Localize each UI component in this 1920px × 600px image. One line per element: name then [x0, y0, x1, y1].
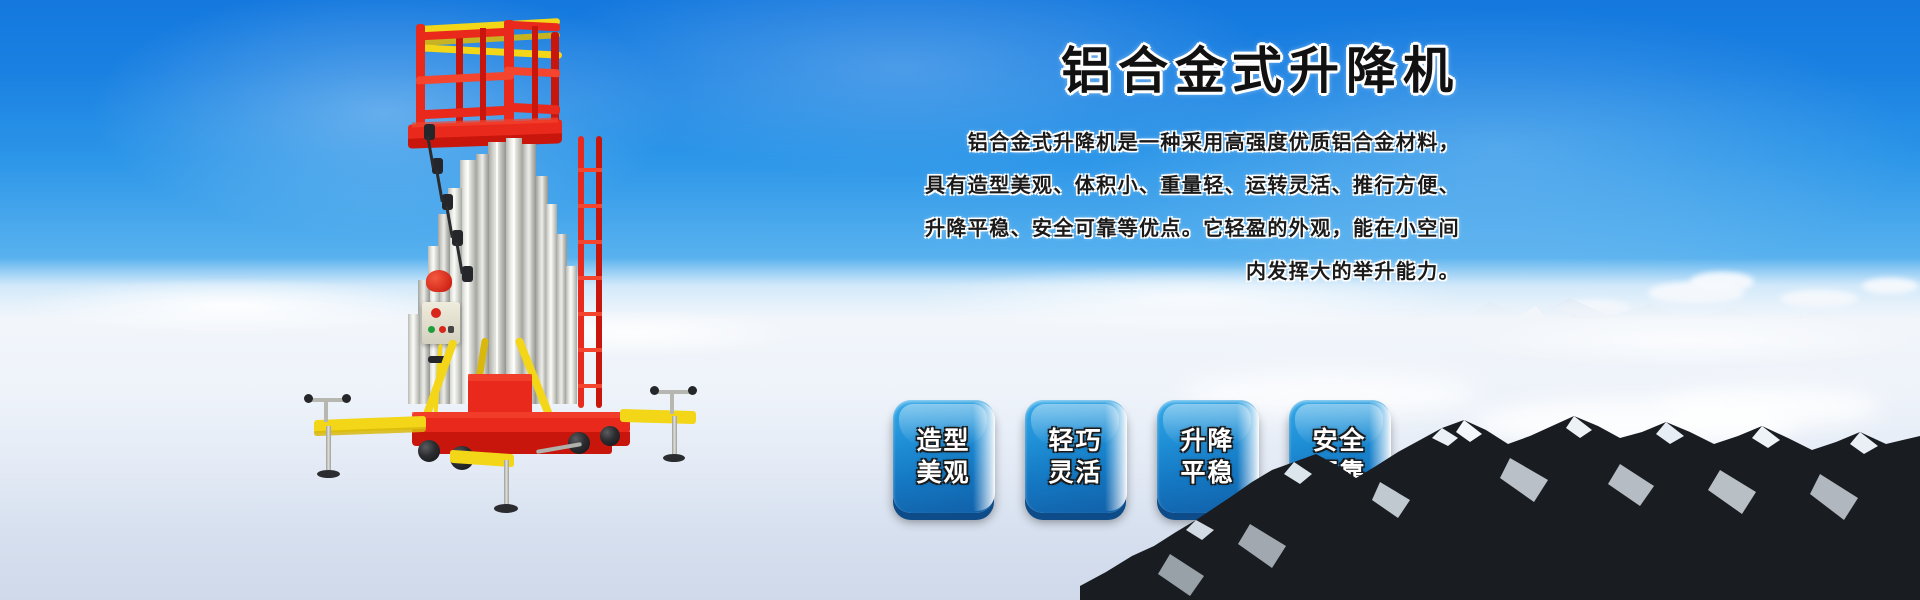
- product-description: 铝合金式升降机是一种采用高强度优质铝合金材料， 具有造型美观、体积小、重量轻、运…: [760, 121, 1460, 293]
- aluminium-lift-machine-illustration: [300, 8, 700, 508]
- feature-badge-line2: 美观: [916, 457, 970, 489]
- description-line: 铝合金式升降机是一种采用高强度优质铝合金材料，: [760, 121, 1460, 164]
- description-line: 内发挥大的举升能力。: [760, 250, 1460, 293]
- description-line: 升降平稳、安全可靠等优点。它轻盈的外观，能在小空间: [760, 207, 1460, 250]
- description-line: 具有造型美观、体积小、重量轻、运转灵活、推行方便、: [760, 164, 1460, 207]
- product-banner: 铝合金式升降机 铝合金式升降机是一种采用高强度优质铝合金材料， 具有造型美观、体…: [0, 0, 1920, 600]
- feature-badge-line1: 造型: [916, 425, 970, 457]
- banner-text-block: 铝合金式升降机 铝合金式升降机是一种采用高强度优质铝合金材料， 具有造型美观、体…: [760, 44, 1460, 293]
- foreground-mountain-range: [1080, 404, 1920, 600]
- feature-badge-design[interactable]: 造型 美观: [893, 400, 994, 513]
- page-title: 铝合金式升降机: [760, 44, 1460, 99]
